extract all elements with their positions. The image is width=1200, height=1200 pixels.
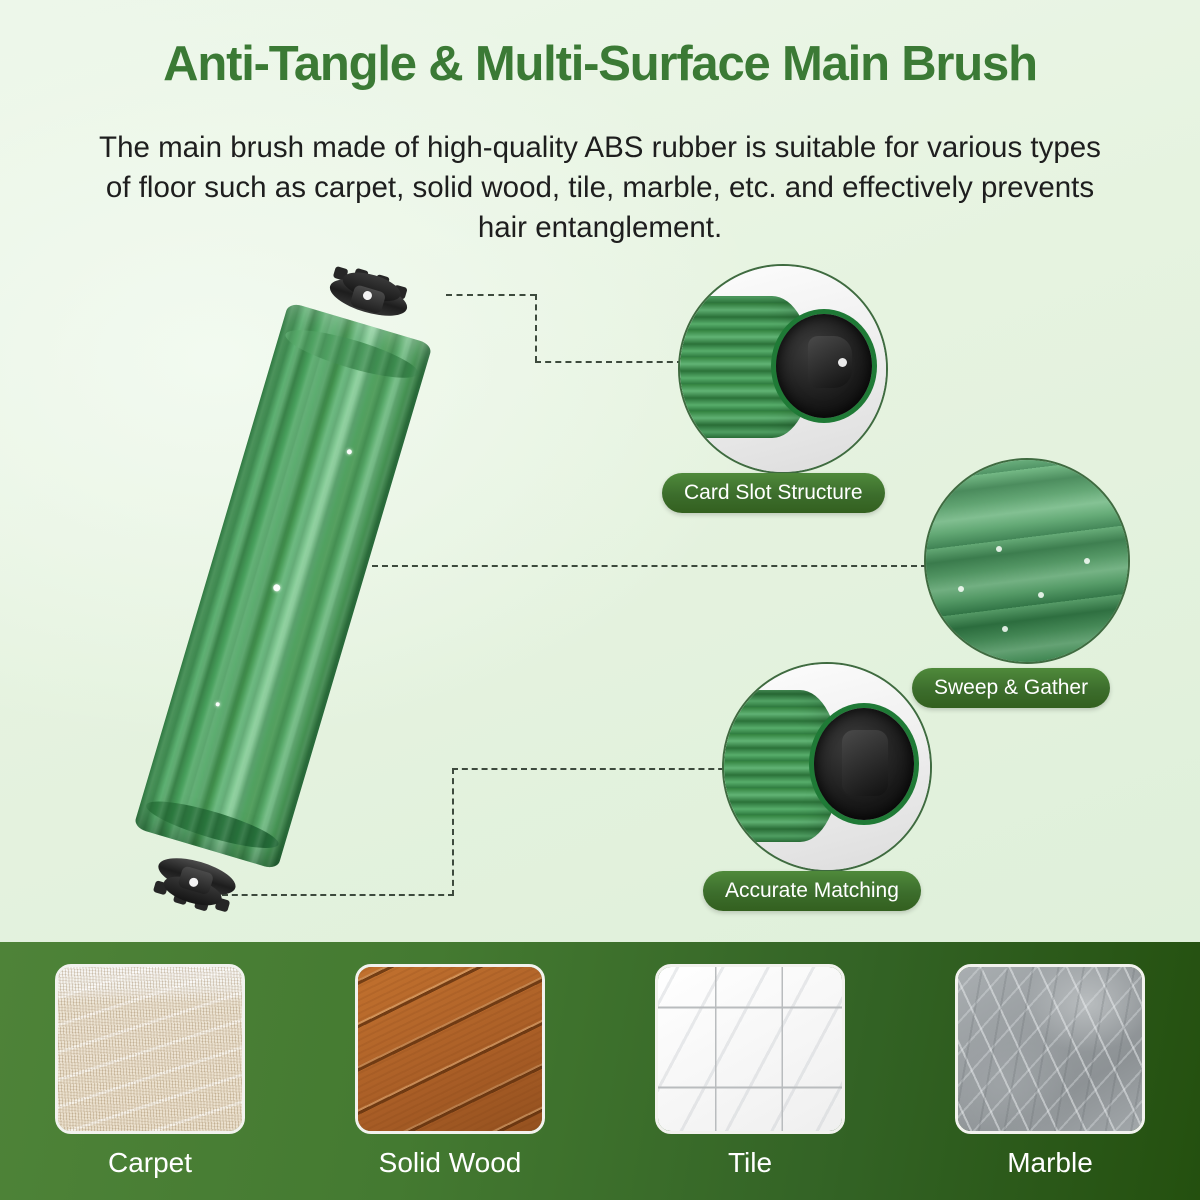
badge-sweep-gather: Sweep & Gather	[912, 668, 1110, 708]
callout-circle-card-slot	[678, 264, 888, 474]
accurate-matching-closeup-image	[724, 664, 930, 870]
badge-card-slot-structure: Card Slot Structure	[662, 473, 885, 513]
floor-sample-card	[955, 964, 1145, 1134]
floor-type-tile: Tile	[650, 964, 850, 1180]
badge-accurate-matching: Accurate Matching	[703, 871, 921, 911]
marble-texture-image	[958, 967, 1142, 1131]
floor-type-label: Carpet	[108, 1146, 192, 1180]
badge-label: Sweep & Gather	[934, 676, 1088, 700]
floor-type-label: Solid Wood	[379, 1146, 522, 1180]
floor-sample-card	[55, 964, 245, 1134]
floor-sample-card	[355, 964, 545, 1134]
floor-type-label: Marble	[1007, 1146, 1093, 1180]
floor-type-solid-wood: Solid Wood	[350, 964, 550, 1180]
floor-type-carpet: Carpet	[50, 964, 250, 1180]
wood-texture-image	[358, 967, 542, 1131]
tile-texture-image	[658, 967, 842, 1131]
callout-circle-accurate-matching	[722, 662, 932, 872]
floor-sample-card	[655, 964, 845, 1134]
carpet-texture-image	[58, 967, 242, 1131]
connector-line-matching-h2	[452, 768, 734, 770]
callout-circle-sweep-gather	[924, 458, 1130, 664]
brush-body	[133, 302, 432, 870]
floor-types-list: Carpet Solid Wood Tile Marble	[0, 942, 1200, 1200]
badge-label: Card Slot Structure	[684, 481, 863, 505]
floor-type-marble: Marble	[950, 964, 1150, 1180]
floor-types-strip: Carpet Solid Wood Tile Marble	[0, 942, 1200, 1200]
brush-roller	[126, 277, 440, 895]
connector-line-card-slot-h2	[535, 361, 683, 363]
badge-label: Accurate Matching	[725, 879, 899, 903]
page-title: Anti-Tangle & Multi-Surface Main Brush	[0, 36, 1200, 92]
ribbed-surface-closeup-image	[926, 460, 1128, 662]
floor-type-label: Tile	[728, 1146, 772, 1180]
main-brush-image	[96, 262, 466, 922]
card-slot-closeup-image	[680, 266, 886, 472]
hero-section: Anti-Tangle & Multi-Surface Main Brush T…	[0, 0, 1200, 942]
product-infographic: Anti-Tangle & Multi-Surface Main Brush T…	[0, 0, 1200, 1200]
page-subtitle: The main brush made of high-quality ABS …	[86, 128, 1114, 248]
connector-line-card-slot-v	[535, 294, 537, 362]
